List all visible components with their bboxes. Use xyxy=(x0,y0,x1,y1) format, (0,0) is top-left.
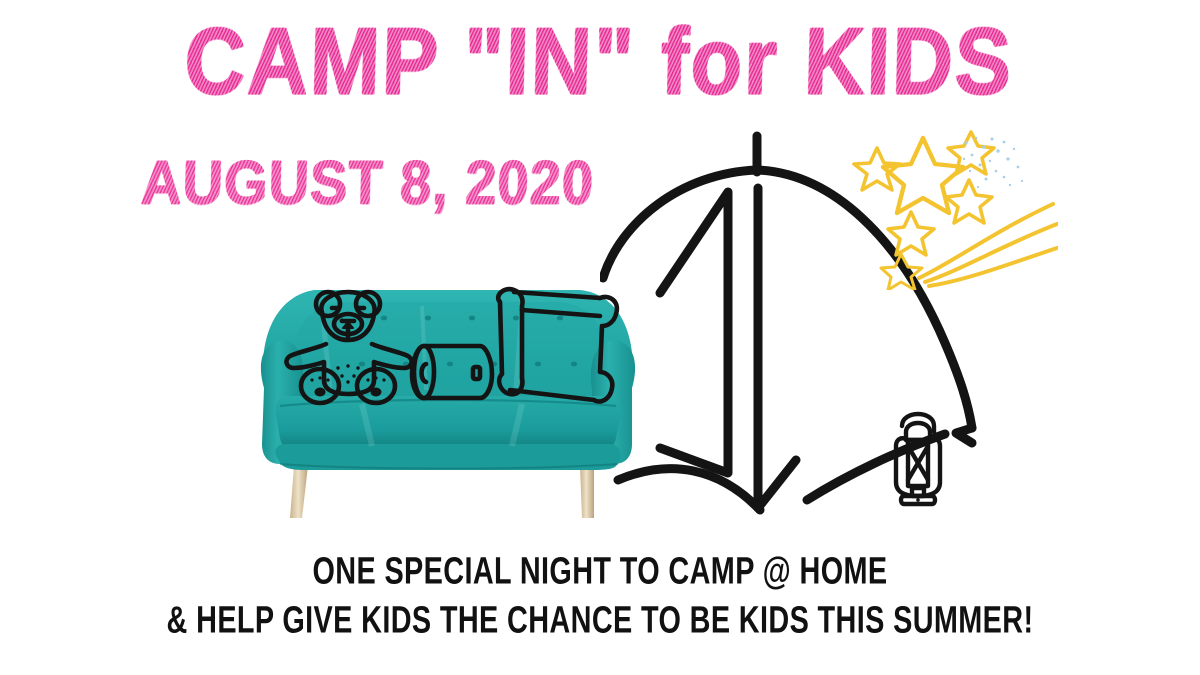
sofa-svg xyxy=(222,268,672,540)
sofa-velvet-sheen xyxy=(322,306,522,446)
bear-belly-dots xyxy=(336,364,359,383)
bear-body-and-arms xyxy=(287,344,412,394)
pillow-bottom-edge xyxy=(510,390,594,400)
lantern-cap xyxy=(906,423,930,440)
date-hatch-overlay xyxy=(100,150,620,228)
date-block: AUGUST 8, 2020 xyxy=(88,152,648,208)
footer-line-2: & HELP GIVE KIDS THE CHANCE TO BE KIDS T… xyxy=(42,601,1158,639)
tent-dome-left xyxy=(603,170,972,428)
sparkle-dots xyxy=(958,133,1042,205)
headline-block: CAMP "IN" for KIDS xyxy=(0,14,1200,98)
star-trail-1 xyxy=(919,204,1053,278)
star-large-center xyxy=(883,138,963,213)
star-trail-tip xyxy=(881,254,922,290)
title-hatch-overlay xyxy=(95,18,1105,130)
poster-canvas: CAMP "IN" for KIDS AUGUST 8, 2020 ONE SP… xyxy=(0,0,1200,675)
sofa-illustration xyxy=(222,268,672,540)
star-mid-right xyxy=(946,180,992,223)
lantern-svg xyxy=(882,402,954,508)
sofa-leg-right xyxy=(580,466,594,518)
sofa-base-seam xyxy=(280,464,618,469)
sleeping-bag-body xyxy=(412,346,492,398)
pillow-icon xyxy=(498,289,617,401)
bear-muzzle xyxy=(334,314,362,334)
tent-svg xyxy=(600,128,1000,528)
pillow-top-edge xyxy=(514,292,600,298)
sofa-legs xyxy=(290,466,594,518)
star-lower-center xyxy=(888,212,934,255)
sleeping-bag-strap xyxy=(473,367,480,379)
star-trail-3 xyxy=(929,248,1057,286)
sparkle-dot-group xyxy=(963,137,1023,188)
star-small-left xyxy=(854,148,900,190)
tent-ground-right xyxy=(807,434,945,500)
sofa-leg-left xyxy=(290,466,308,518)
star-upper-right xyxy=(948,132,994,174)
stars-illustration xyxy=(843,130,1058,290)
sofa-seat xyxy=(275,396,620,452)
footer-block: ONE SPECIAL NIGHT TO CAMP @ HOME & HELP … xyxy=(0,552,1200,632)
lantern-base xyxy=(901,496,935,504)
lantern-handle xyxy=(902,414,934,432)
bear-pad-right xyxy=(371,388,382,397)
sofa-tufting xyxy=(337,316,577,367)
bear-toe-dots xyxy=(310,376,385,381)
tent-flap-outline xyxy=(660,192,728,473)
lantern-base-dot xyxy=(916,498,920,502)
pillow-seam xyxy=(522,310,600,316)
sleeping-bag-end xyxy=(414,346,434,398)
bear-nose xyxy=(343,322,353,328)
bear-head xyxy=(321,292,374,340)
poster-title: CAMP "IN" for KIDS xyxy=(183,14,1014,108)
sofa-arm-right xyxy=(591,340,635,464)
sofa-doodles xyxy=(222,268,672,540)
tent-door-inner xyxy=(758,188,796,508)
bear-foot-left xyxy=(301,369,339,403)
poster-date: AUGUST 8, 2020 xyxy=(140,152,594,214)
teddy-bear-icon xyxy=(287,292,412,403)
bear-ear-right xyxy=(356,292,380,316)
footer-line-1: ONE SPECIAL NIGHT TO CAMP @ HOME xyxy=(42,552,1158,590)
tent-dome-peg xyxy=(956,428,972,443)
sleeping-bag-spiral xyxy=(422,364,427,382)
lantern-illustration xyxy=(882,402,954,508)
lantern-cage-x2 xyxy=(908,446,928,480)
pillow-right-edge xyxy=(594,297,617,402)
tent-ground-left xyxy=(618,469,760,510)
lantern-cage-x1 xyxy=(908,446,928,480)
sparkles-svg xyxy=(958,133,1042,205)
sofa-base xyxy=(275,444,620,470)
sofa-arm-left xyxy=(261,340,303,464)
pillow-left-edge xyxy=(498,289,522,394)
bear-foot-right xyxy=(357,369,395,403)
sofa-back-cushion xyxy=(291,302,608,396)
bear-pad-left xyxy=(315,388,326,397)
sleeping-bag-icon xyxy=(412,346,492,398)
stars-svg xyxy=(843,130,1058,290)
doodles-svg xyxy=(222,268,672,540)
lantern-burner xyxy=(912,488,924,496)
tent-illustration xyxy=(600,128,1000,528)
lantern-body xyxy=(896,438,940,496)
sofa-seat-seam xyxy=(280,400,616,406)
bear-ear-left xyxy=(316,292,340,316)
star-trail-2 xyxy=(925,224,1057,282)
sofa-back xyxy=(263,290,633,466)
